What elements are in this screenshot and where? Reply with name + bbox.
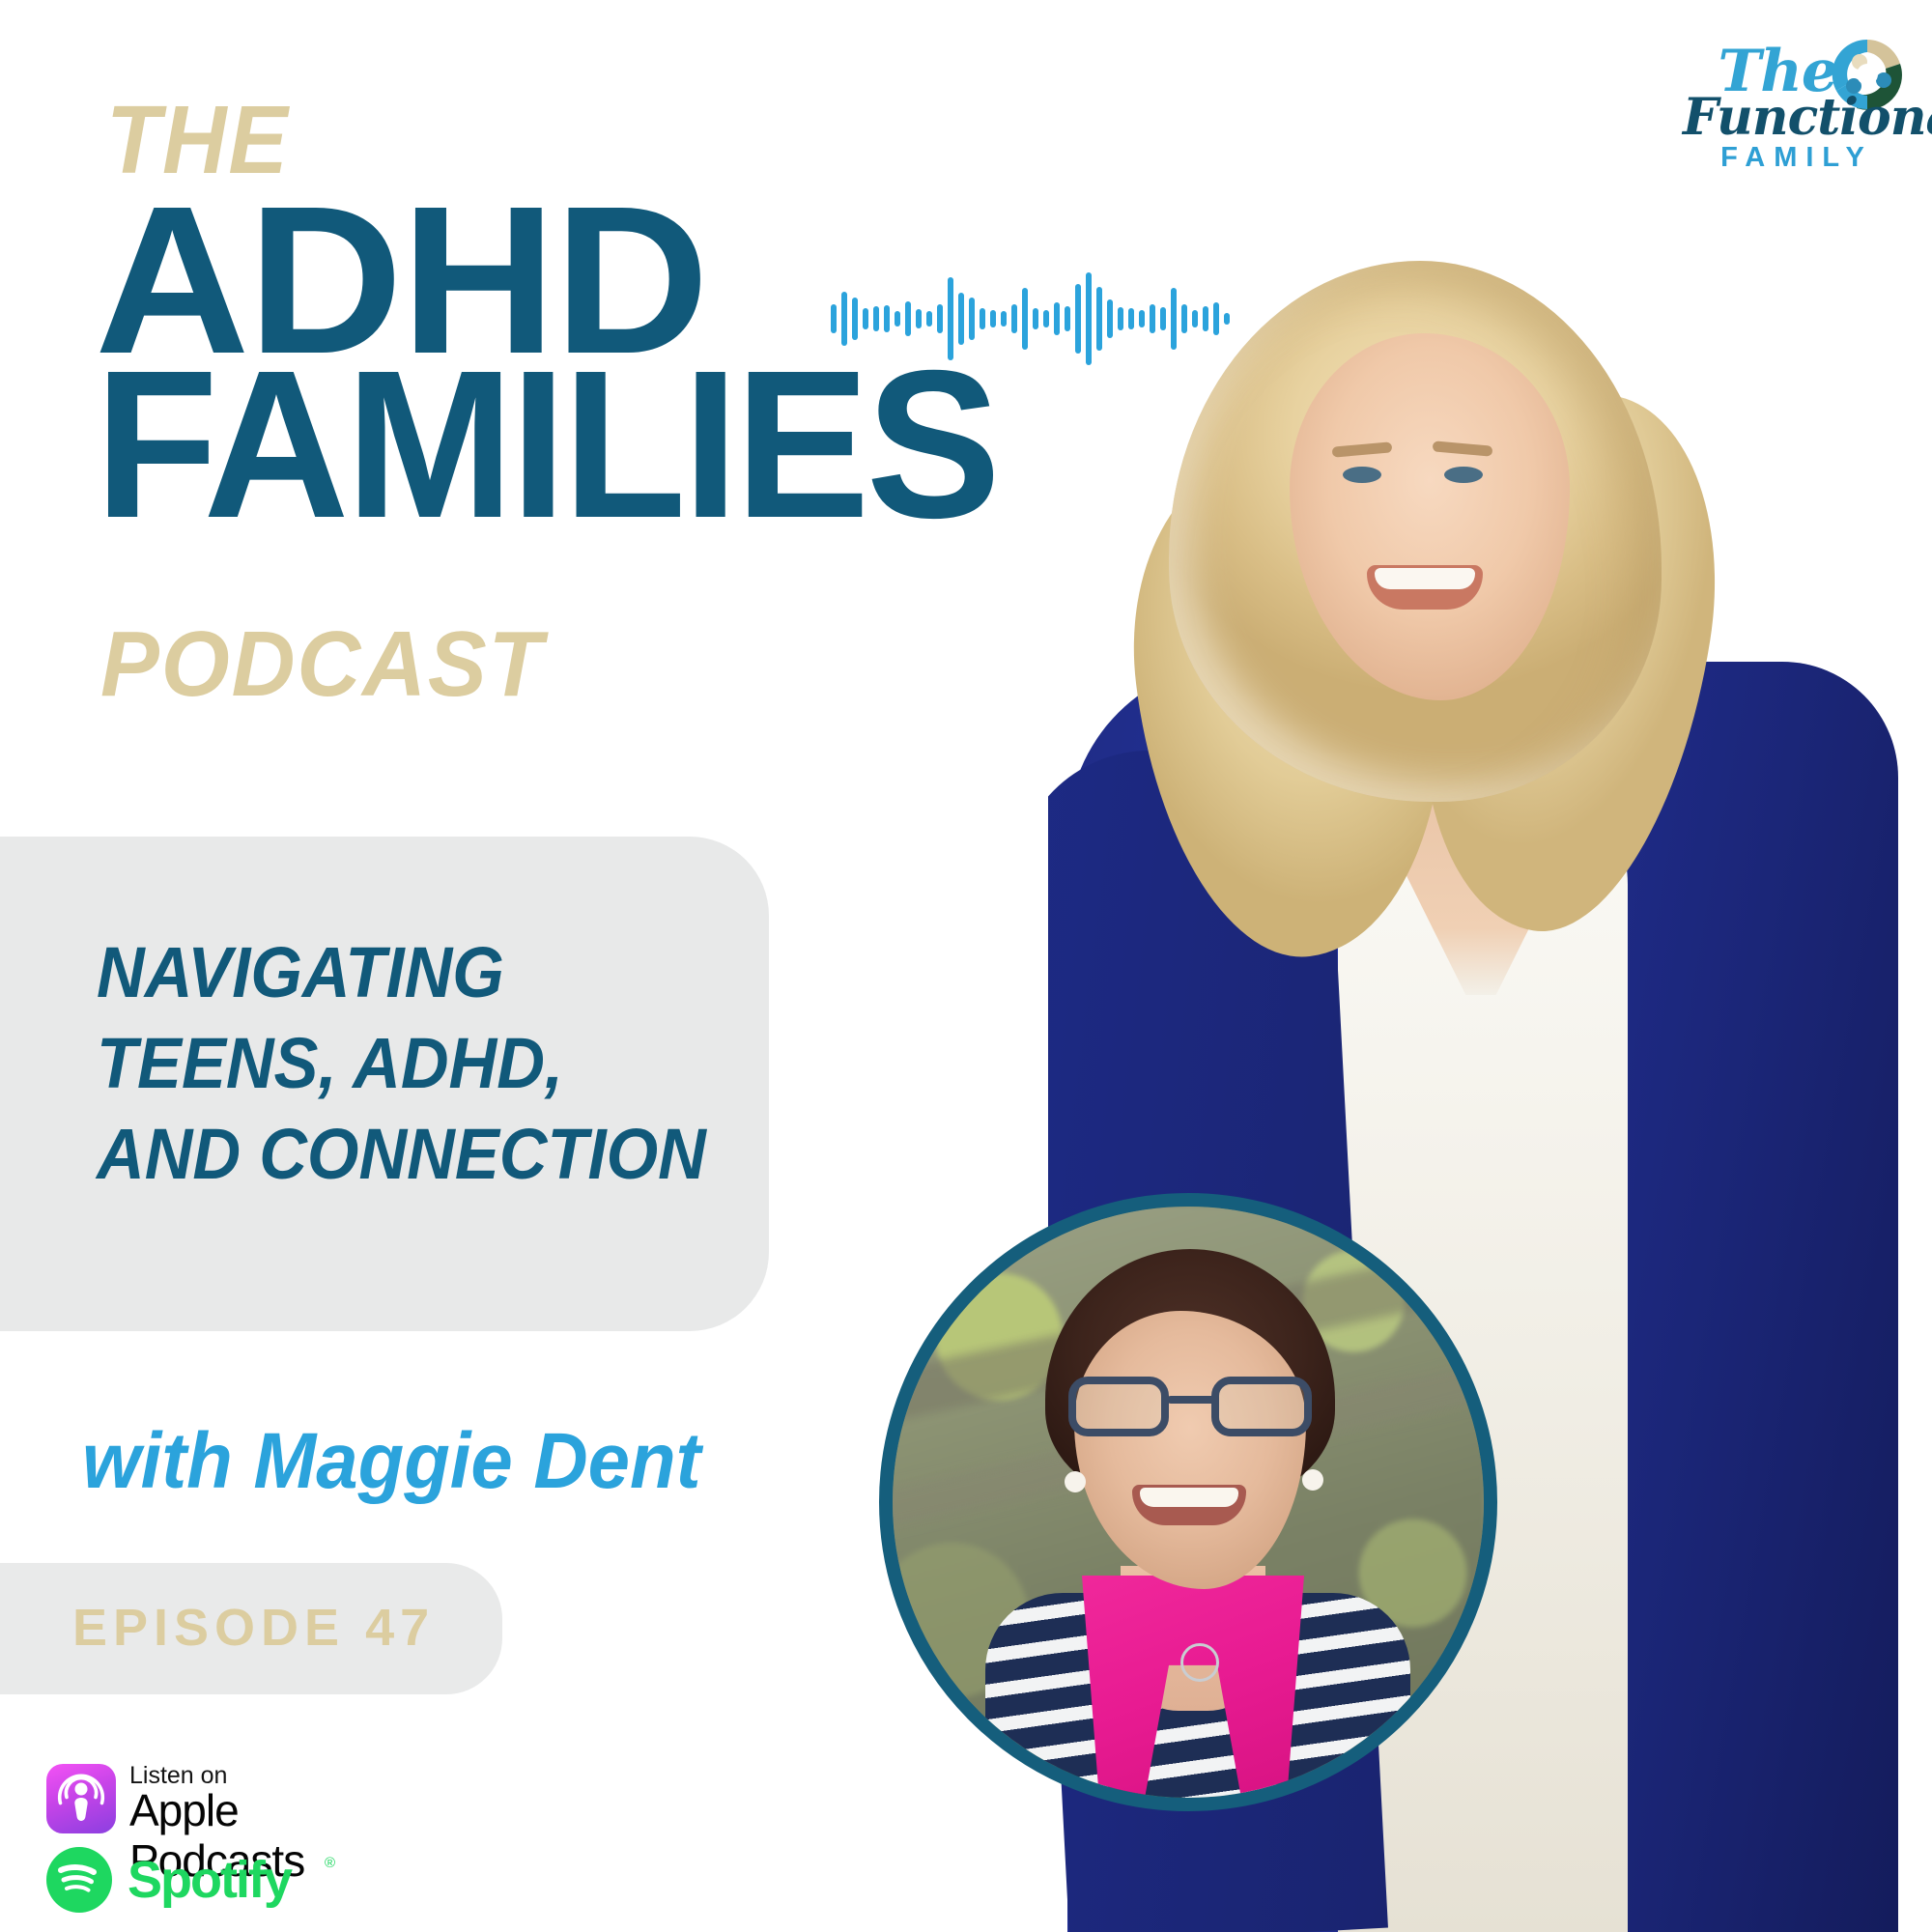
spotify-icon [46, 1847, 112, 1913]
waveform-bar [969, 298, 975, 340]
guest-lens-right [1211, 1377, 1312, 1436]
waveform-bar [895, 311, 900, 327]
guest-glasses-bridge [1167, 1396, 1215, 1404]
waveform-bar [916, 309, 922, 328]
host-teeth [1375, 568, 1475, 589]
guest-glasses [1068, 1377, 1312, 1436]
spotify-badge[interactable]: Spotify ® [46, 1847, 298, 1918]
spotify-registered-mark: ® [325, 1855, 335, 1871]
logo-family-text: FAMILY [1683, 141, 1911, 174]
logo-functional-text: Functional [1683, 89, 1911, 147]
guest-necklace [1180, 1643, 1219, 1682]
host-eye-left [1343, 467, 1381, 483]
waveform-bar [958, 293, 964, 345]
episode-title-line-1: NAVIGATING [97, 927, 717, 1018]
waveform-bar [884, 305, 890, 332]
episode-title-line-2: TEENS, ADHD, [97, 1018, 717, 1109]
episode-number-label: EPISODE 47 [72, 1599, 435, 1657]
waveform-bar [1033, 308, 1038, 329]
waveform-bar [926, 311, 932, 327]
apple-podcasts-icon [46, 1764, 116, 1833]
wordmark-podcast: PODCAST [100, 618, 544, 711]
guest-credit: with Maggie Dent [82, 1422, 701, 1501]
wordmark-families: FAMILIES [95, 340, 997, 551]
guest-teeth [1140, 1488, 1238, 1507]
waveform-bar [905, 301, 911, 336]
guest-portrait [879, 1193, 1497, 1811]
waveform-bar [852, 298, 858, 340]
waveform-bar [831, 304, 837, 333]
waveform-bar [873, 306, 879, 331]
apple-podcasts-badge[interactable]: Listen on Apple Podcasts [46, 1762, 336, 1839]
waveform-bar [1022, 288, 1028, 350]
podcast-cover-artwork: The Functional FAMILY THE ADHD FAMILIES … [0, 0, 1932, 1932]
episode-title-line-3: AND CONNECTION [97, 1109, 717, 1200]
waveform-bar [863, 308, 868, 329]
waveform-bar [937, 304, 943, 333]
waveform-bar [948, 277, 953, 360]
host-eye-right [1444, 467, 1483, 483]
functional-family-logo: The Functional FAMILY [1683, 29, 1911, 174]
guest-lens-left [1068, 1377, 1169, 1436]
guest-earring-left [1065, 1471, 1086, 1492]
spotify-label: Spotify [128, 1852, 291, 1908]
waveform-bar [990, 310, 996, 327]
episode-title: NAVIGATING TEENS, ADHD, AND CONNECTION [97, 927, 717, 1200]
waveform-bar [980, 308, 985, 329]
waveform-bar [1011, 304, 1017, 333]
waveform-bar [1001, 311, 1007, 327]
waveform-bar [841, 292, 847, 346]
guest-earring-right [1302, 1469, 1323, 1491]
